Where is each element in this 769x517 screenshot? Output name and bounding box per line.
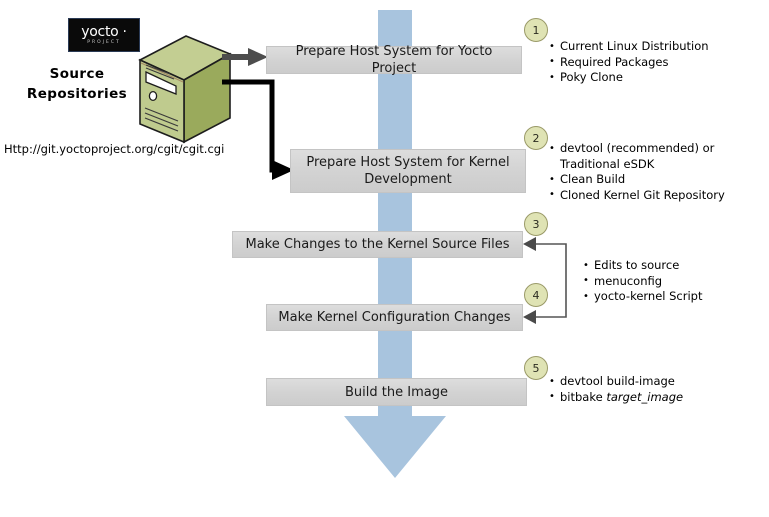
process-box-step-2[interactable]: Prepare Host System for Kernel Developme… (290, 149, 526, 193)
list-item: menuconfig (583, 274, 703, 290)
process-box-step-1-label: Prepare Host System for Yocto Project (275, 43, 513, 77)
step-2-bullet-list: devtool (recommended) or Traditional eSD… (549, 141, 725, 203)
step-number-5-value: 5 (533, 362, 540, 375)
source-label-line-2: Repositories (14, 84, 140, 104)
step-number-1-value: 1 (533, 24, 540, 37)
server-icon (130, 32, 236, 144)
list-item: Current Linux Distribution (549, 39, 709, 55)
process-box-step-3-label: Make Changes to the Kernel Source Files (246, 236, 510, 253)
step-number-2: 2 (524, 126, 548, 150)
list-item-argument: target_image (606, 390, 683, 404)
list-item-continuation: Traditional eSDK (549, 157, 725, 173)
list-item: Poky Clone (549, 70, 709, 86)
step-number-3-value: 3 (533, 218, 540, 231)
process-box-step-2-label: Prepare Host System for Kernel Developme… (299, 154, 517, 188)
step-number-3: 3 (524, 212, 548, 236)
step-1-bullet-list: Current Linux Distribution Required Pack… (549, 39, 709, 86)
process-box-step-4-label: Make Kernel Configuration Changes (278, 309, 510, 326)
list-item: devtool (recommended) or (549, 141, 725, 157)
repository-url: Http://git.yoctoproject.org/cgit/cgit.cg… (4, 142, 224, 156)
list-item: Clean Build (549, 172, 725, 188)
list-item: devtool build-image (549, 374, 683, 390)
main-flow-arrow (326, 10, 486, 510)
process-box-step-3[interactable]: Make Changes to the Kernel Source Files (232, 231, 523, 258)
step-number-2-value: 2 (533, 132, 540, 145)
steps-3-4-bullet-list: Edits to source menuconfig yocto-kernel … (583, 258, 703, 305)
list-item-command: bitbake (560, 390, 606, 404)
list-item: yocto-kernel Script (583, 289, 703, 305)
connector-server-to-step1 (222, 44, 272, 70)
list-item: Cloned Kernel Git Repository (549, 188, 725, 204)
list-item: Edits to source (583, 258, 703, 274)
connector-bracket-steps-3-4 (522, 236, 578, 328)
step-number-4-value: 4 (533, 289, 540, 302)
process-box-step-5-label: Build the Image (345, 384, 448, 401)
logo-subtext: PROJECT (87, 41, 120, 46)
list-item: bitbake target_image (549, 390, 683, 406)
step-number-4: 4 (524, 283, 548, 307)
step-number-5: 5 (524, 356, 548, 380)
process-box-step-4[interactable]: Make Kernel Configuration Changes (266, 304, 523, 331)
connector-server-to-step2 (222, 78, 294, 182)
diagram-canvas: yocto · PROJECT Source Repositories Http… (0, 0, 769, 517)
source-label-line-1: Source (14, 64, 140, 84)
logo-wordmark: yocto · (81, 25, 126, 39)
step-5-bullet-list: devtool build-image bitbake target_image (549, 374, 683, 405)
step-number-1: 1 (524, 18, 548, 42)
process-box-step-5[interactable]: Build the Image (266, 378, 527, 406)
list-item: Required Packages (549, 55, 709, 71)
source-repositories-label: Source Repositories (14, 64, 140, 104)
process-box-step-1[interactable]: Prepare Host System for Yocto Project (266, 46, 522, 74)
